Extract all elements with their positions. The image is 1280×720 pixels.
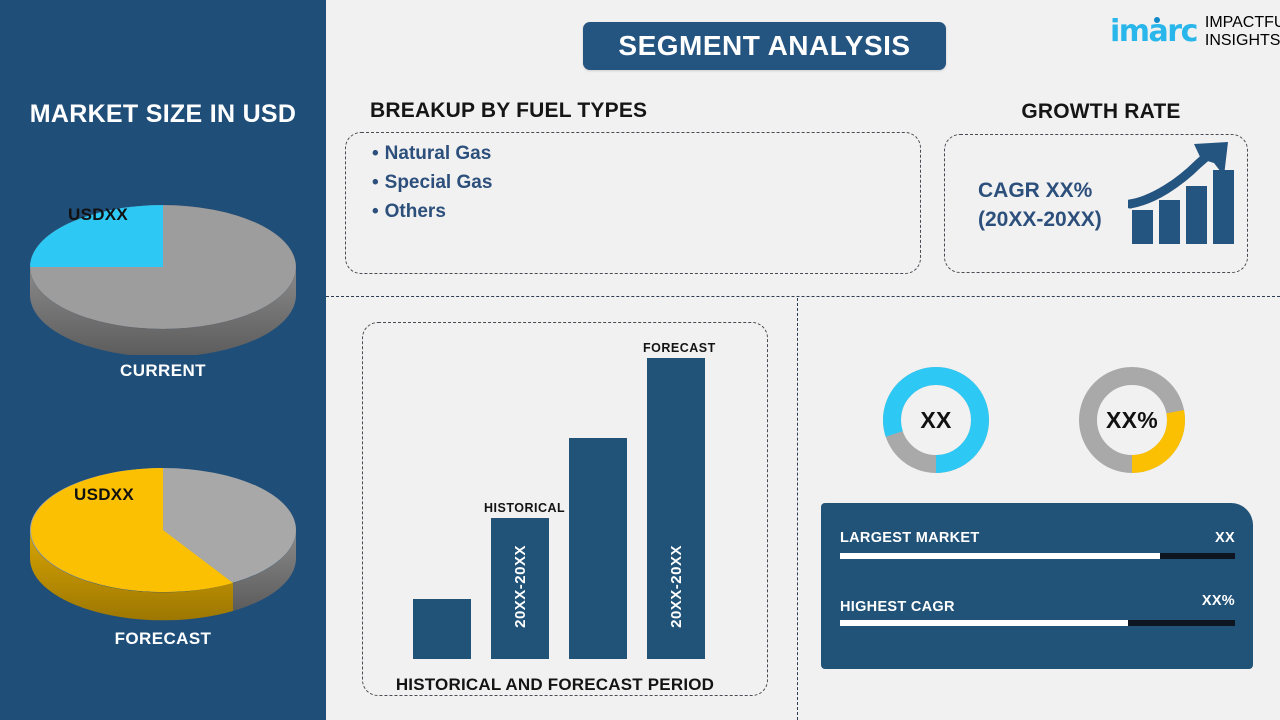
market-stats-card: LARGEST MARKET XX HIGHEST CAGR XX% [821,503,1253,669]
page-title: SEGMENT ANALYSIS [583,22,946,70]
cagr-line-2: (20XX-20XX) [978,205,1102,234]
bar-1-annotation: HISTORICAL [484,501,565,515]
cagr-text: CAGR XX% (20XX-20XX) [978,176,1102,234]
bar-3-inner-label: 20XX-20XX [668,545,685,628]
list-item: •Special Gas [372,168,492,197]
bar-1-inner-label: 20XX-20XX [512,545,529,628]
header-band: SEGMENT ANALYSIS imarc IMPACTFUL INSIGHT… [326,0,1280,88]
current-pie-caption: CURRENT [0,361,326,381]
sidebar-title: MARKET SIZE IN USD [0,100,326,129]
stat-label-largest-market: LARGEST MARKET [840,530,980,546]
list-item: •Natural Gas [372,139,492,168]
logo-tagline-line1: IMPACTFUL [1205,14,1280,32]
bullet-icon: • [372,143,379,164]
donut-chart-2-value: XX% [1106,407,1158,434]
market-size-sidebar: MARKET SIZE IN USD USDXX [0,0,326,720]
fuel-types-heading: BREAKUP BY FUEL TYPES [370,99,647,123]
bar-2 [569,438,627,659]
bar-0 [413,599,471,659]
growth-rate-heading: GROWTH RATE [941,100,1261,124]
donut-chart-1-value: XX [920,407,951,434]
current-pie-chart: USDXX [0,155,326,355]
list-item-label: Natural Gas [385,143,492,164]
stat-value-largest-market: XX [1215,530,1235,546]
current-pie-svg [0,155,326,355]
list-item-label: Special Gas [385,172,493,193]
stat-progress-fill-largest-market [840,553,1160,559]
stat-progress-track-largest-market [840,553,1235,559]
horizontal-divider [326,296,1280,297]
forecast-pie-svg [0,425,326,625]
logo-tagline-line2: INSIGHTS [1205,32,1280,50]
cagr-line-1: CAGR XX% [978,176,1102,205]
list-item: •Others [372,197,492,226]
bullet-icon: • [372,172,379,193]
logo-dot-icon [1154,17,1160,23]
stat-progress-track-highest-cagr [840,620,1235,626]
bar-3-annotation: FORECAST [643,341,716,355]
list-item-label: Others [385,201,446,222]
segment-analysis-infographic: MARKET SIZE IN USD USDXX [0,0,1280,720]
logo-tagline: IMPACTFUL INSIGHTS [1205,14,1280,50]
page-title-text: SEGMENT ANALYSIS [618,30,910,62]
bar-chart-axis-label: HISTORICAL AND FORECAST PERIOD [360,675,750,695]
forecast-pie-chart: USDXX [0,425,326,625]
stat-value-highest-cagr: XX% [1202,593,1235,609]
stat-label-highest-cagr: HIGHEST CAGR [840,599,955,615]
vertical-divider [797,298,798,720]
bullet-icon: • [372,201,379,222]
growth-bar-arrow-icon [1128,138,1243,253]
imarc-logo: imarc IMPACTFUL INSIGHTS [1110,12,1268,52]
stat-progress-fill-highest-cagr [840,620,1128,626]
forecast-pie-caption: FORECAST [0,629,326,649]
fuel-types-list: •Natural Gas •Special Gas •Others [372,139,492,226]
